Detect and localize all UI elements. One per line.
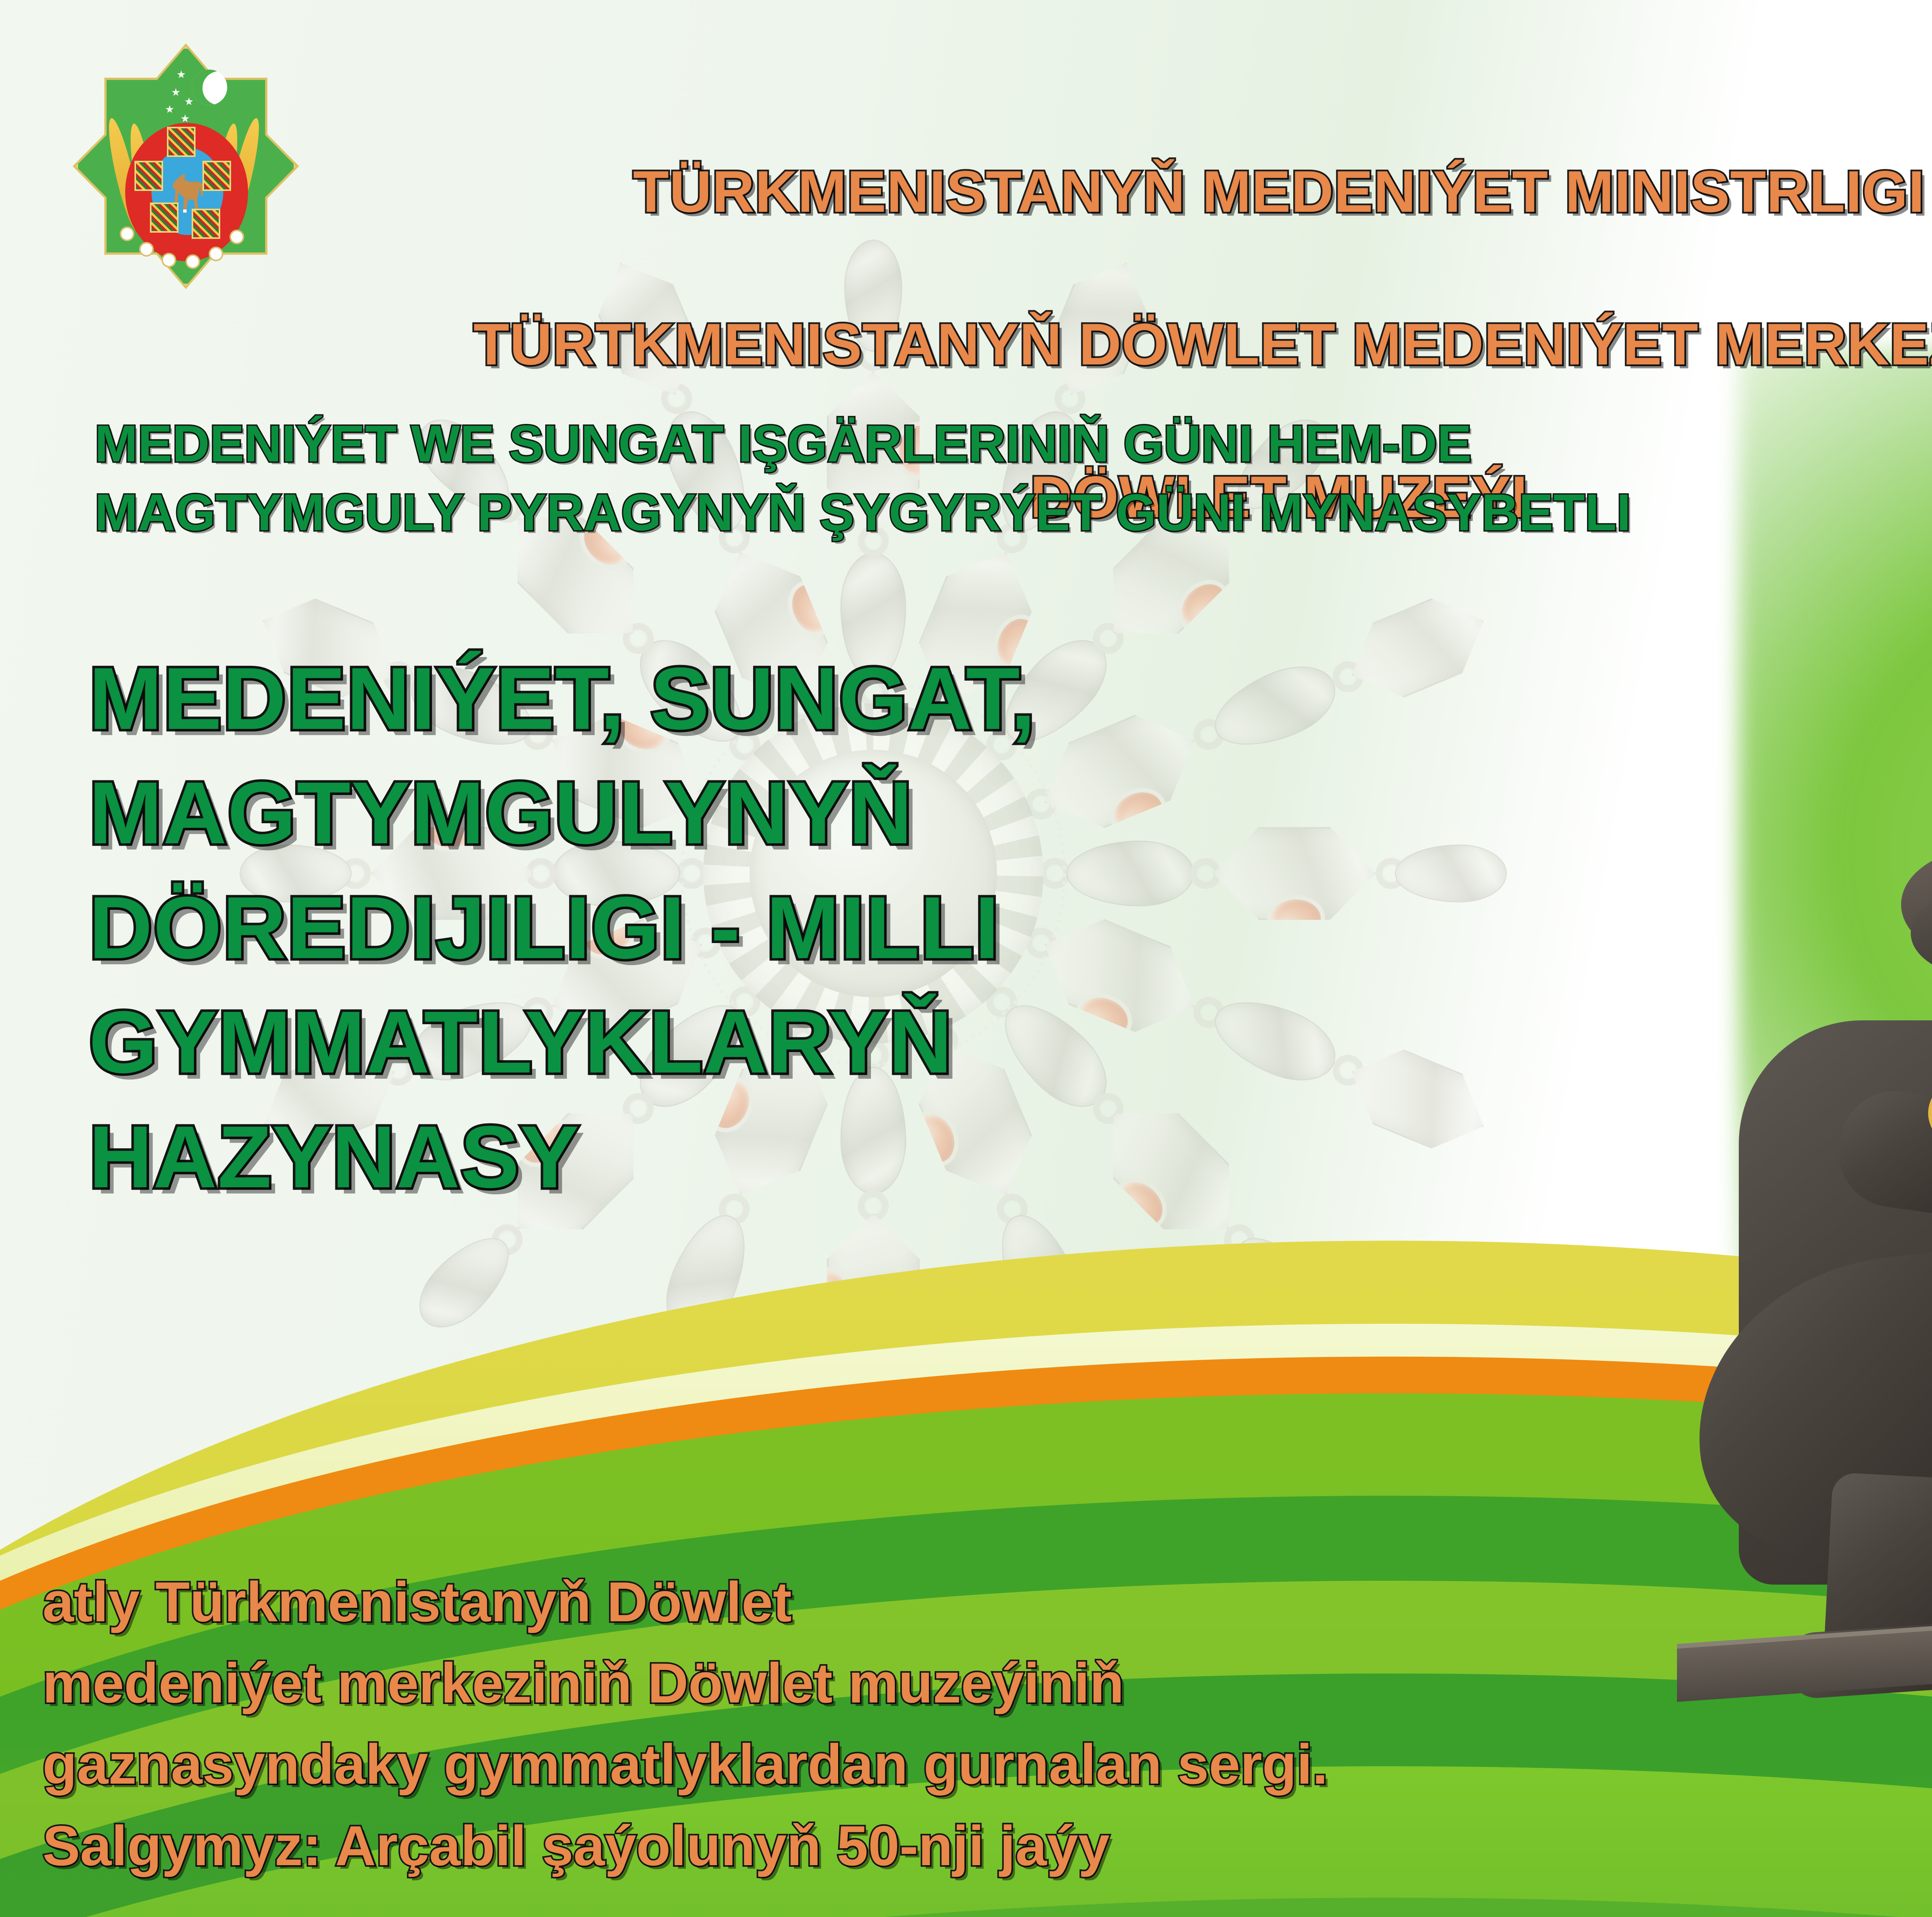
- footer-line-2: medeniýet merkeziniň Döwlet muzeýiniň: [43, 1643, 1859, 1724]
- subtitle-line-1: MEDENIÝET WE SUNGAT IŞGÄRLERINIŇ GÜNI HE…: [95, 410, 1872, 478]
- subtitle-block: MEDENIÝET WE SUNGAT IŞGÄRLERINIŇ GÜNI HE…: [95, 410, 1872, 547]
- carpet-gul-icon: [167, 127, 196, 157]
- cotton-flower-icon: [210, 248, 222, 260]
- footer-address: Salgymyz: Arçabil şaýolunyň 50-nji jaýy: [43, 1805, 1859, 1886]
- crescent-moon-icon: [192, 70, 227, 105]
- cotton-flower-icon: [121, 228, 133, 240]
- headline-line-1: MEDENIÝET, SUNGAT,: [89, 642, 1596, 756]
- header-line-1: TÜRKMENISTANYŇ MEDENIÝET MINISTRLIGI: [398, 154, 1932, 230]
- carpet-gul-icon: [150, 203, 179, 233]
- headline-line-3: DÖREDIJILIGI - MILLI: [89, 871, 1596, 985]
- subtitle-line-2: MAGTYMGULY PYRAGYNYŇ ŞYGYRÝET GÜNI MYNAS…: [95, 478, 1872, 547]
- footer-line-1: atly Türkmenistanyň Döwlet: [43, 1561, 1859, 1643]
- carpet-gul-icon: [192, 209, 220, 239]
- carpet-gul-icon: [202, 161, 231, 191]
- turkmenistan-state-emblem: [76, 46, 296, 286]
- header-line-2: TÜRTKMENISTANYŇ DÖWLET MEDENIÝET MERKEZI…: [398, 306, 1932, 383]
- footer-line-3: gaznasyndaky gymmatlyklardan gurnalan se…: [43, 1724, 1859, 1805]
- footer-block: atly Türkmenistanyň Döwlet medeniýet mer…: [43, 1561, 1859, 1886]
- poster-canvas: TÜRKMENISTANYŇ MEDENIÝET MINISTRLIGI TÜR…: [0, 0, 1932, 1917]
- headline-line-2: MAGTYMGULYNYŇ: [89, 756, 1596, 870]
- cotton-flower-icon: [187, 256, 199, 267]
- cotton-flower-icon: [141, 243, 152, 255]
- carpet-gul-icon: [134, 161, 163, 191]
- cotton-flower-icon: [231, 231, 243, 243]
- cotton-flower-icon: [163, 254, 175, 266]
- headline-line-4: GYMMATLYKLARYŇ: [89, 985, 1596, 1100]
- main-headline: MEDENIÝET, SUNGAT, MAGTYMGULYNYŇ DÖREDIJ…: [89, 642, 1596, 1214]
- headline-line-5: HAZYNASY: [89, 1100, 1596, 1214]
